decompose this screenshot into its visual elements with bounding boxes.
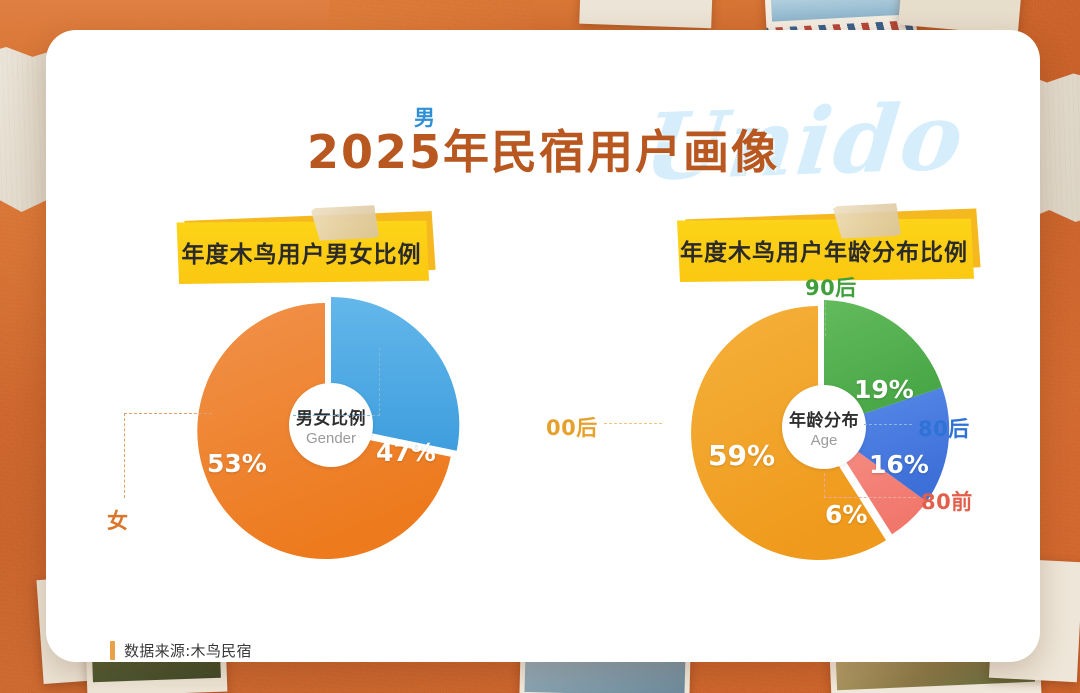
age-label-post80: 80后 [918,413,970,443]
gender-label-male: 男 [414,102,436,132]
gender-hub-title: 男女比例 [296,404,366,429]
gender-value-female: 53% [207,449,267,478]
source-note: 数据来源:木鸟民宿 [110,640,252,661]
postcard-sky [771,0,910,22]
source-accent-bar [110,641,115,660]
age-leader-pre80-vertical [824,473,825,498]
age-value-pre80: 6% [825,500,867,529]
age-value-post90: 19% [854,375,914,404]
gender-leader-female-horizontal [124,413,212,414]
gender-leader-female-vertical [124,413,125,498]
gender-label-female: 女 [107,505,129,535]
main-card: Unido 2025年民宿用户画像 年度木鸟用户男女比例 年度木鸟用户年龄分布比… [46,30,1040,662]
age-hub-subtitle: Age [811,432,838,449]
age-value-post00: 59% [708,439,775,472]
gender-leader-male-vertical [379,348,380,416]
age-label-post00: 00后 [546,412,598,442]
age-hub-title: 年龄分布 [789,406,859,431]
page-title: 2025年民宿用户画像 [46,116,1040,182]
age-label-post90: 90后 [805,272,857,302]
age-leader-post00-horizontal [604,423,662,424]
age-leader-post90-vertical [825,302,826,336]
age-value-post80: 16% [869,450,929,479]
postcard-photo-top-center [579,0,713,28]
gender-center-hub: 男女比例 Gender [289,383,373,467]
age-label-pre80: 80前 [921,486,973,516]
gender-leader-male-horizontal [293,415,380,416]
gender-donut-chart: 男女比例 Gender 47% 53% [176,275,496,575]
age-leader-post80-horizontal [864,424,912,425]
gender-hub-subtitle: Gender [306,430,356,447]
age-leader-pre80-horizontal [824,497,916,498]
source-text: 数据来源:木鸟民宿 [124,640,252,661]
gender-value-male: 47% [376,438,436,467]
